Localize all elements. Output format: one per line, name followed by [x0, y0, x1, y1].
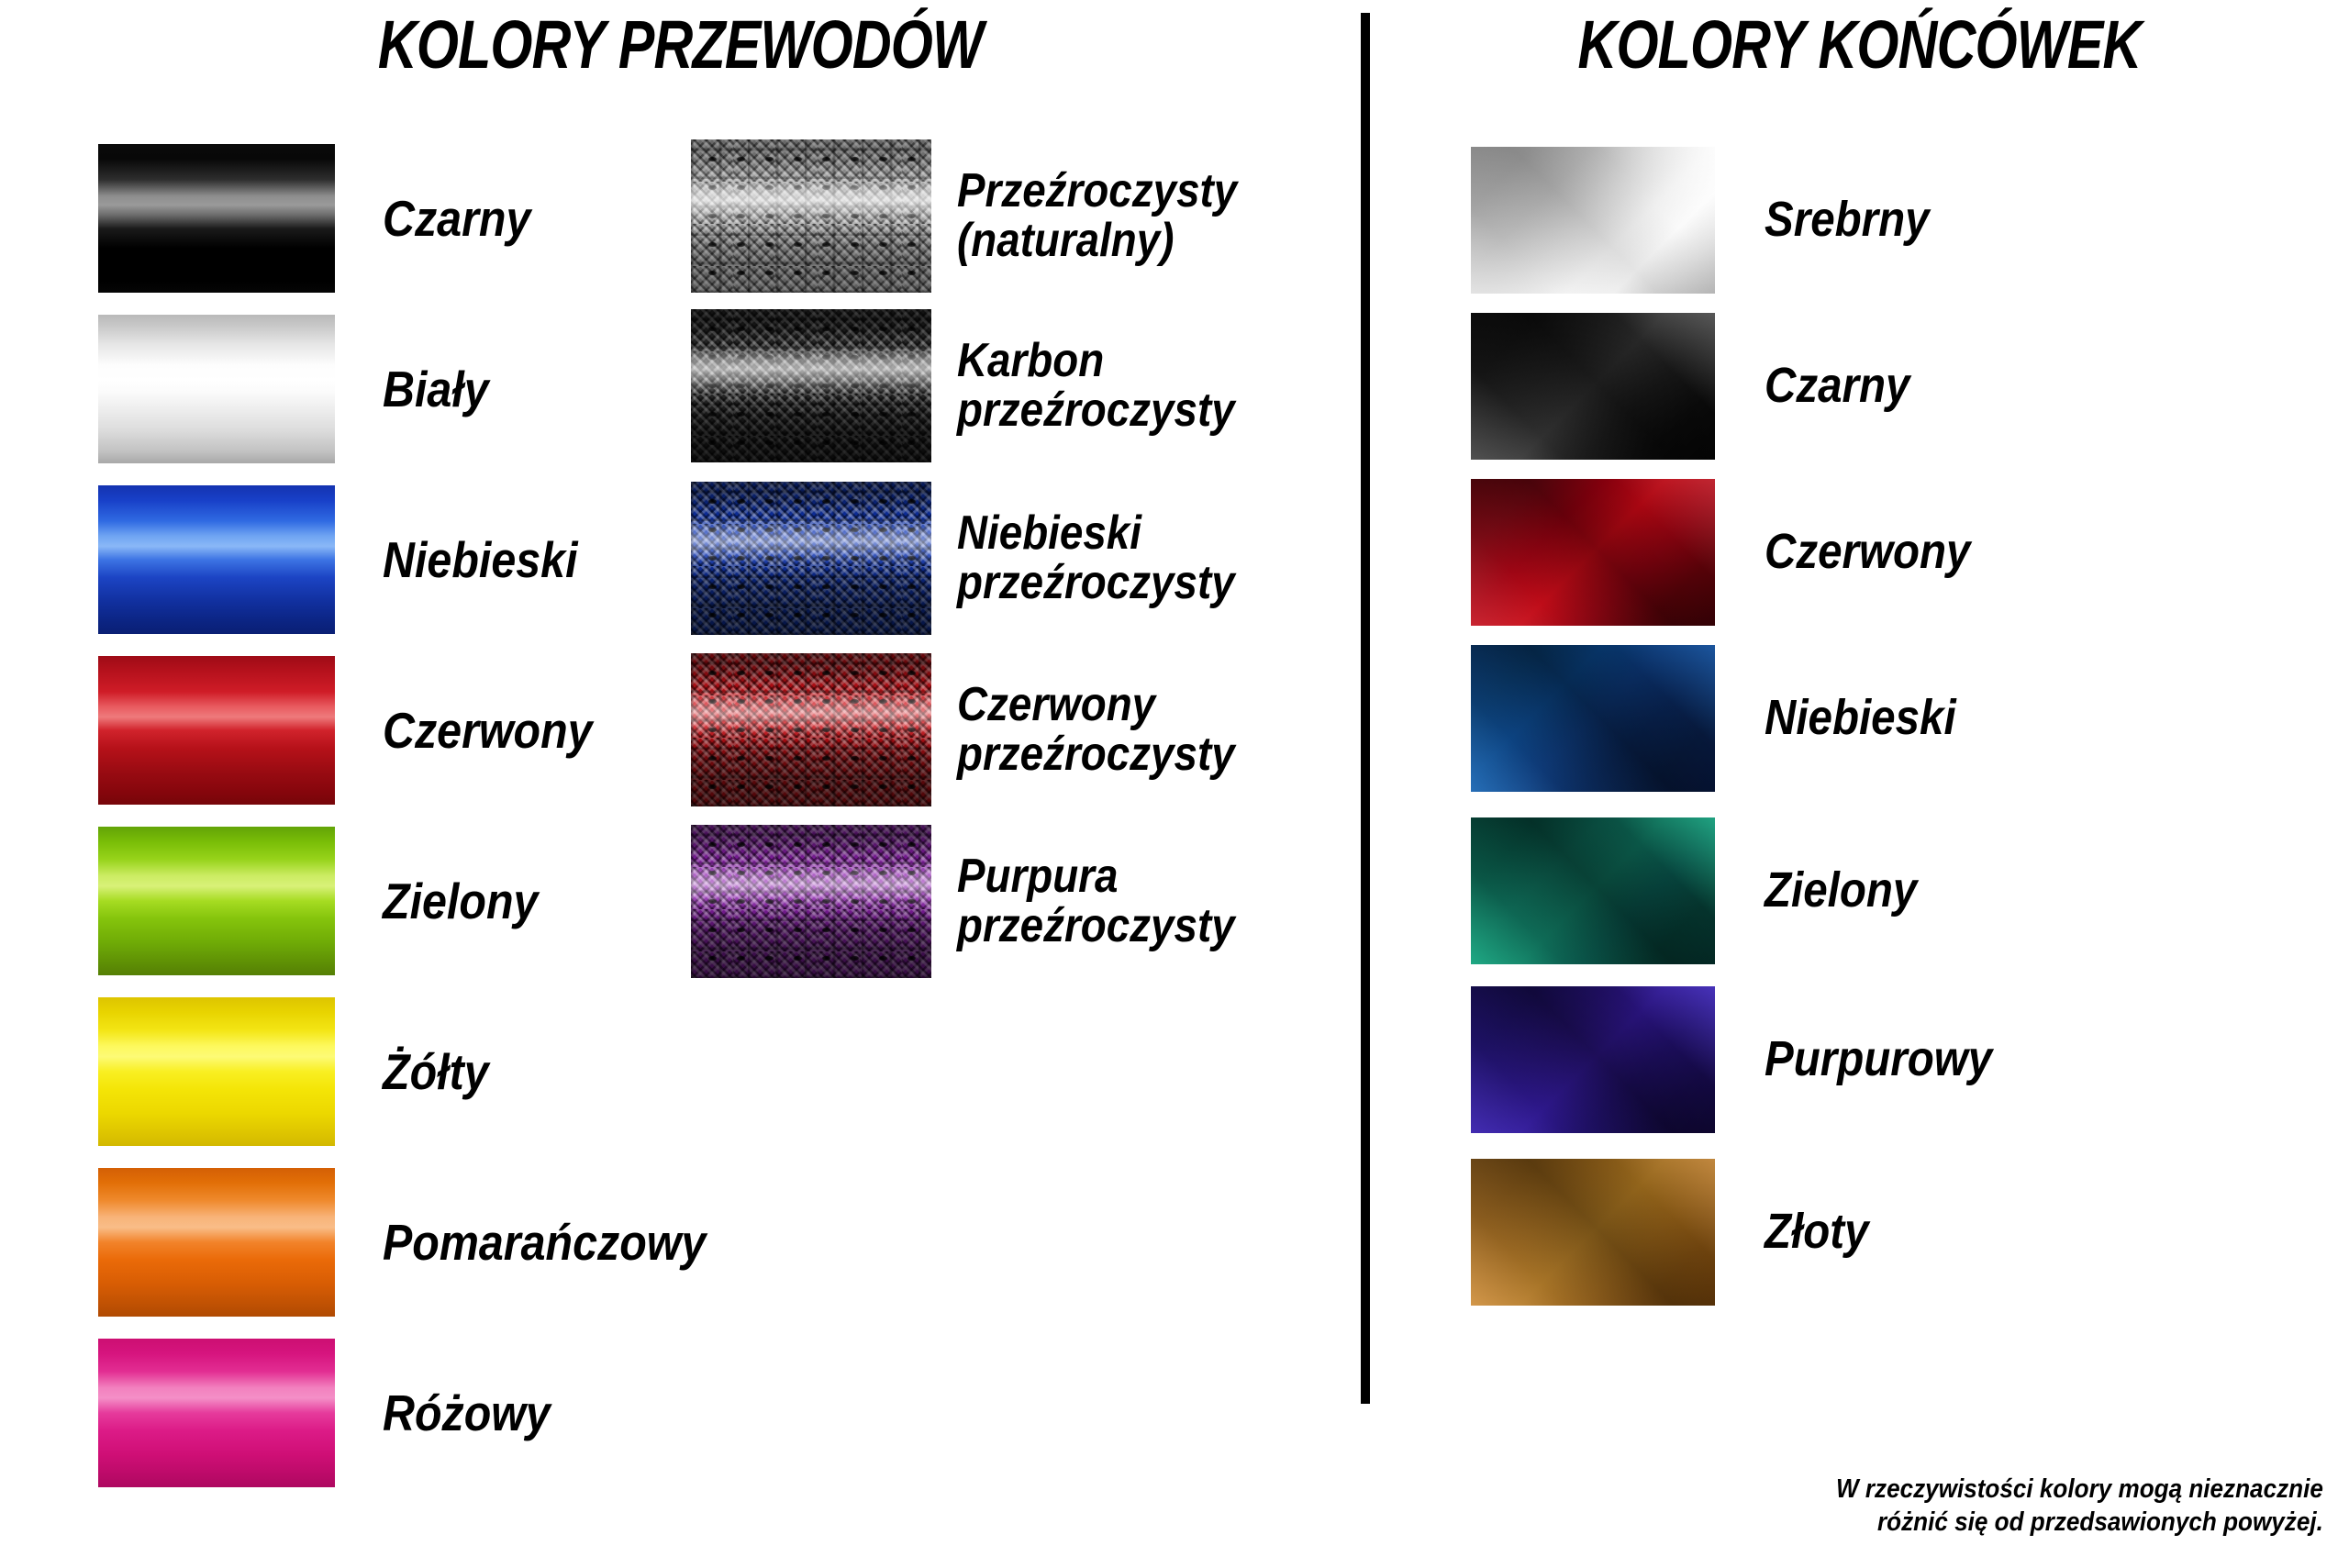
gold-fitting-swatch [1471, 1159, 1715, 1306]
cable-row-czarny[interactable]: Czarny [98, 144, 551, 293]
silver-fitting-swatch [1471, 147, 1715, 294]
fitting-row-zloty[interactable]: Złoty [1471, 1159, 1883, 1306]
cables-panel: KOLORY PRZEWODÓW Czarny Biały Niebieski … [0, 0, 1361, 1568]
disclaimer-note: W rzeczywistości kolory mogą nieznacznie… [1836, 1473, 2323, 1539]
weave-texture [691, 653, 931, 806]
carbon-braid-swatch [691, 309, 931, 462]
blue-cable-swatch [98, 485, 335, 634]
orange-cable-swatch [98, 1168, 335, 1317]
cable-label-przezroczysty: Przeźroczysty (naturalny) [957, 167, 1237, 264]
pink-cable-swatch [98, 1339, 335, 1487]
cable-row-czerwony[interactable]: Czerwony [98, 656, 621, 805]
natural-braid-swatch [691, 139, 931, 293]
cable-row-pomaranczowy[interactable]: Pomarańczowy [98, 1168, 750, 1317]
fitting-label-czarny: Czarny [1765, 361, 1909, 411]
red-braid-swatch [691, 653, 931, 806]
cable-row-bialy[interactable]: Biały [98, 315, 503, 463]
fitting-row-purpurowy[interactable]: Purpurowy [1471, 986, 2023, 1133]
fitting-row-czerwony[interactable]: Czerwony [1471, 479, 1998, 626]
fitting-label-czerwony: Czerwony [1765, 527, 1970, 577]
blue-fitting-swatch [1471, 645, 1715, 792]
weave-texture [691, 482, 931, 635]
cable-row-karbon[interactable]: Karbon przeźroczysty [691, 309, 1273, 462]
cable-row-zielony[interactable]: Zielony [98, 827, 560, 975]
cable-label-niebieski-przezroczysty: Niebieski przeźroczysty [957, 509, 1235, 606]
fitting-row-srebrny[interactable]: Srebrny [1471, 147, 1952, 294]
cable-label-bialy: Biały [383, 363, 489, 415]
vertical-divider [1361, 13, 1370, 1404]
fittings-panel-title: KOLORY KOŃCÓWEK [1468, 11, 2252, 79]
yellow-cable-swatch [98, 997, 335, 1146]
fitting-row-niebieski[interactable]: Niebieski [1471, 645, 1982, 792]
cable-row-purpura[interactable]: Purpura przeźroczysty [691, 825, 1273, 978]
color-chart-page: { "page": { "background": "#ffffff", "te… [0, 0, 2349, 1568]
cable-row-niebieski-przezroczysty[interactable]: Niebieski przeźroczysty [691, 482, 1273, 635]
cable-row-przezroczysty[interactable]: Przeźroczysty (naturalny) [691, 139, 1275, 293]
cable-row-czerwony-przezroczysty[interactable]: Czerwony przeźroczysty [691, 653, 1273, 806]
cable-label-niebieski: Niebieski [383, 534, 578, 585]
weave-texture [691, 825, 931, 978]
cable-row-niebieski[interactable]: Niebieski [98, 485, 605, 634]
fitting-label-niebieski: Niebieski [1765, 693, 1956, 743]
purple-fitting-swatch [1471, 986, 1715, 1133]
cable-label-zielony: Zielony [383, 875, 538, 927]
green-fitting-swatch [1471, 817, 1715, 964]
cable-row-zolty[interactable]: Żółty [98, 997, 503, 1146]
red-fitting-swatch [1471, 479, 1715, 626]
fittings-panel: KOLORY KOŃCÓWEK Srebrny Czarny Czerwony … [1370, 0, 2349, 1568]
cable-label-purpura: Purpura przeźroczysty [957, 852, 1235, 950]
white-cable-swatch [98, 315, 335, 463]
blue-braid-swatch [691, 482, 931, 635]
cable-row-rozowy[interactable]: Różowy [98, 1339, 573, 1487]
fitting-row-czarny[interactable]: Czarny [1471, 313, 1930, 460]
cable-label-zolty: Żółty [383, 1046, 489, 1097]
weave-texture [691, 139, 931, 293]
fitting-label-srebrny: Srebrny [1765, 195, 1930, 245]
black-fitting-swatch [1471, 313, 1715, 460]
fitting-label-purpurowy: Purpurowy [1765, 1034, 1992, 1084]
cable-label-czerwony-przezroczysty: Czerwony przeźroczysty [957, 681, 1235, 778]
cables-panel-title: KOLORY PRZEWODÓW [136, 11, 1224, 79]
cable-label-czarny: Czarny [383, 193, 530, 244]
purple-braid-swatch [691, 825, 931, 978]
cable-label-pomaranczowy: Pomarańczowy [383, 1217, 706, 1268]
cable-label-czerwony: Czerwony [383, 705, 593, 756]
cable-label-karbon: Karbon przeźroczysty [957, 337, 1235, 434]
fitting-label-zielony: Zielony [1765, 865, 1917, 916]
black-cable-swatch [98, 144, 335, 293]
green-cable-swatch [98, 827, 335, 975]
weave-texture [691, 309, 931, 462]
fitting-row-zielony[interactable]: Zielony [1471, 817, 1938, 964]
red-cable-swatch [98, 656, 335, 805]
fitting-label-zloty: Złoty [1765, 1207, 1869, 1257]
cable-label-rozowy: Różowy [383, 1387, 551, 1439]
